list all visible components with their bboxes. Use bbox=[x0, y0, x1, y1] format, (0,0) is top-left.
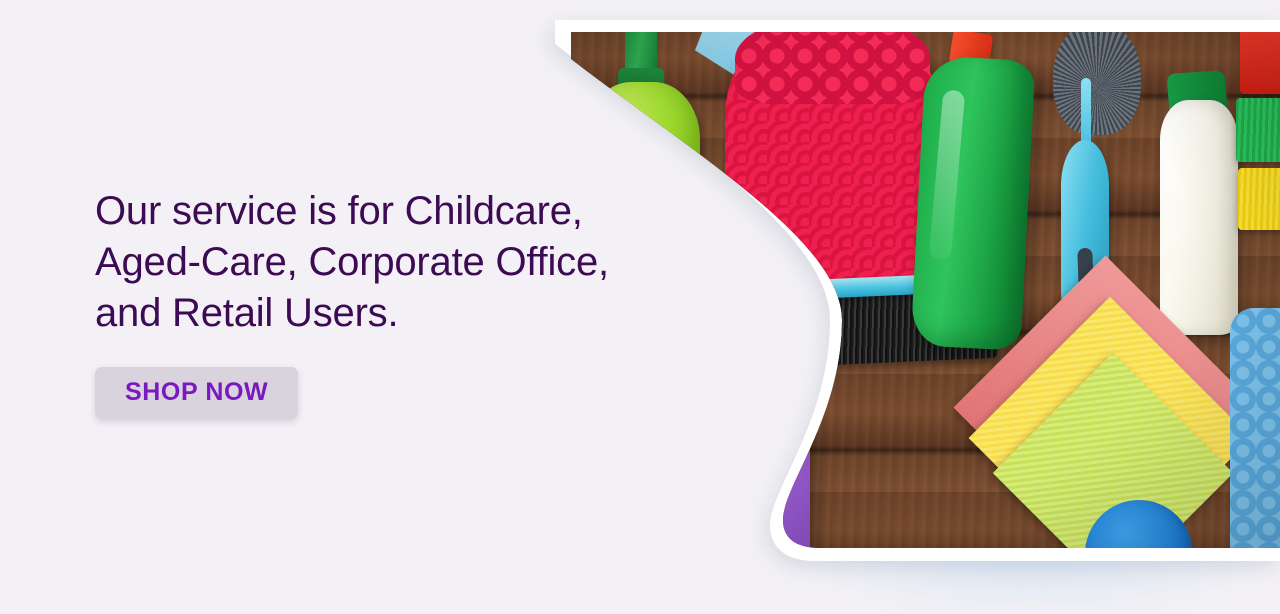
photo-item-pink-mitt-fringe bbox=[735, 20, 930, 104]
photo-item-yellow-sponge-scourer bbox=[1238, 168, 1280, 230]
photo-item-green-detergent-bottle bbox=[910, 55, 1035, 350]
photo-item-bleach-bottle bbox=[568, 424, 630, 565]
photo-item-glove-finger bbox=[664, 336, 707, 429]
photo-item-purple-rubber-glove bbox=[660, 370, 810, 565]
shop-now-button[interactable]: SHOP NOW bbox=[95, 367, 298, 419]
hero-copy-block: Our service is for Childcare, Aged-Care,… bbox=[95, 186, 635, 419]
photo-item-red-sponge-scourer bbox=[1240, 28, 1280, 94]
photo-item-white-cap bbox=[538, 90, 590, 130]
photo-item-green-sponge-scourer bbox=[1236, 98, 1280, 162]
photo-item-blue-chenille-mop bbox=[1230, 308, 1280, 565]
hero-image-panel bbox=[530, 20, 1280, 590]
photo-item-glove-finger bbox=[737, 321, 774, 428]
photo-item-glove-finger bbox=[768, 338, 810, 433]
hero-banner: Our service is for Childcare, Aged-Care,… bbox=[0, 0, 1280, 614]
photo-item-glove-finger bbox=[701, 319, 740, 429]
photo-item-lime-pump-bottle bbox=[585, 82, 700, 202]
page-title: Our service is for Childcare, Aged-Care,… bbox=[95, 186, 635, 339]
photo-item-bottle-brush-head bbox=[1053, 20, 1141, 135]
photo-item-bottle-brush-neck bbox=[1081, 78, 1091, 148]
cta-wrapper: SHOP NOW bbox=[95, 367, 635, 419]
photo-item-cream-bottle bbox=[1160, 100, 1238, 335]
hero-photo bbox=[530, 20, 1280, 565]
